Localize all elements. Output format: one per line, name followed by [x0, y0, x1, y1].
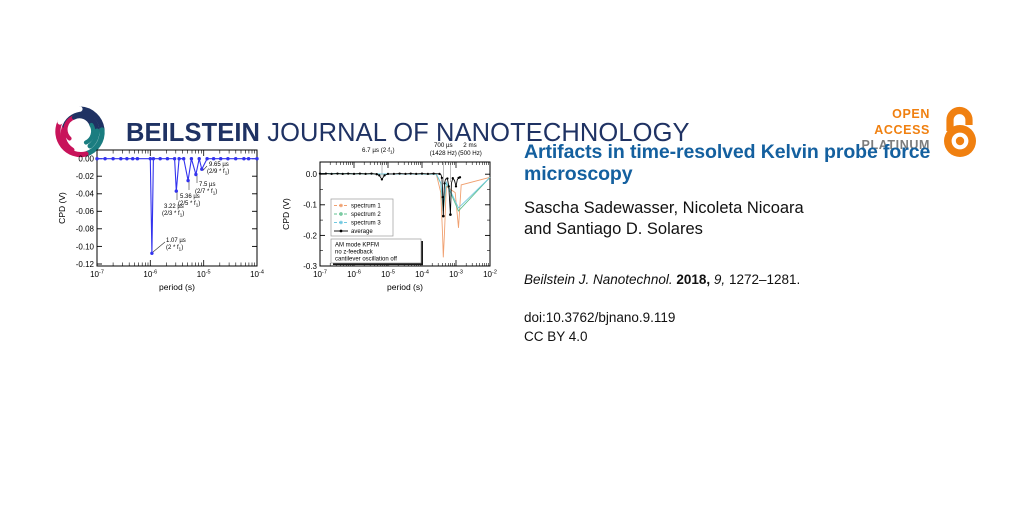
annotation-1-07us-relation: (2 * f1)	[166, 245, 183, 252]
article-cover-page: BEILSTEIN JOURNAL OF NANOTECHNOLOGY OPEN…	[0, 0, 1024, 512]
right-chart-ylabel: CPD (V)	[281, 198, 291, 230]
license-text[interactable]: CC BY 4.0	[524, 327, 992, 346]
left-chart-ylabel: CPD (V)	[57, 192, 67, 224]
legend-label-spectrum-2: spectrum 2	[351, 212, 381, 218]
svg-text:-0.04: -0.04	[76, 190, 95, 199]
page-title: Artifacts in time-resolved Kelvin probe …	[524, 142, 992, 185]
annotation-7-5us-value: 7.5 µs	[199, 182, 215, 188]
annotation-700us-value: 700 µs	[434, 142, 453, 149]
svg-text:10-7: 10-7	[313, 270, 327, 280]
svg-text:10-6: 10-6	[143, 270, 157, 280]
svg-text:-0.08: -0.08	[76, 225, 95, 234]
authors-line-1: Sascha Sadewasser, Nicoleta Nicoara	[524, 199, 804, 217]
right-chart-x-tick-labels: 10-7 10-6 10-5 10-4 10-3 10-2	[313, 270, 497, 280]
svg-text:10-4: 10-4	[415, 270, 429, 280]
figure-right-panel: 0.0 -0.1 -0.2 -0.3	[278, 138, 506, 308]
oa-line-access: ACCESS	[862, 123, 930, 139]
masthead: BEILSTEIN JOURNAL OF NANOTECHNOLOGY OPEN…	[0, 48, 1024, 120]
textbox-line-3: cantilever oscillation off	[335, 257, 397, 263]
annotation-7-5us-relation: (2/7 * f1)	[195, 189, 217, 196]
right-chart-y-tick-labels: 0.0 -0.1 -0.2 -0.3	[303, 170, 317, 271]
svg-text:-0.12: -0.12	[76, 260, 95, 269]
legend-label-spectrum-1: spectrum 1	[351, 204, 381, 210]
annotation-5-36us-relation: (2/5 * f1)	[178, 201, 200, 208]
article-info: Artifacts in time-resolved Kelvin probe …	[524, 142, 992, 346]
right-chart-xlabel: period (s)	[387, 282, 423, 292]
authors-line-2: and Santiago D. Solares	[524, 220, 703, 238]
svg-text:-0.1: -0.1	[303, 201, 317, 210]
svg-text:10-5: 10-5	[197, 270, 211, 280]
citation-pages: 1272–1281.	[729, 272, 800, 287]
left-chart-y-tick-labels: 0.00 -0.02 -0.04 -0.06 -0.08 -0.10 -0.12	[76, 155, 95, 269]
citation: Beilstein J. Nanotechnol. 2018, 9, 1272–…	[524, 270, 992, 289]
annotation-1-07us-value: 1.07 µs	[166, 238, 186, 244]
svg-text:0.0: 0.0	[306, 170, 318, 179]
svg-text:0.00: 0.00	[78, 155, 94, 164]
annotation-9-65us-relation: (2/9 * f1)	[207, 169, 229, 176]
left-chart-xlabel: period (s)	[159, 282, 195, 292]
annotation-2ms-value: 2 ms	[463, 142, 476, 149]
svg-text:10-3: 10-3	[449, 270, 463, 280]
right-chart-annotations: 6.7 µs (2·f1) 700 µs (1428 Hz) 2 ms (500…	[362, 142, 482, 157]
svg-text:-0.06: -0.06	[76, 207, 95, 216]
oa-line-open: OPEN	[862, 107, 930, 123]
annotation-6-7us: 6.7 µs (2·f1)	[362, 147, 395, 155]
svg-text:-0.10: -0.10	[76, 242, 95, 251]
right-chart-legend: spectrum 1 spectrum 2 spectrum 3 average	[331, 199, 393, 236]
svg-text:-0.02: -0.02	[76, 172, 95, 181]
annotation-2ms-freq: (500 Hz)	[458, 150, 482, 157]
svg-text:10-2: 10-2	[483, 270, 497, 280]
svg-text:10-4: 10-4	[250, 270, 264, 280]
textbox-line-1: AM mode KPFM	[335, 243, 379, 249]
figure-left-panel: 0.00 -0.02 -0.04 -0.06 -0.08 -0.10 -0.12	[52, 138, 274, 308]
legend-label-average: average	[351, 229, 373, 235]
svg-text:10-5: 10-5	[381, 270, 395, 280]
citation-volume: 9,	[714, 272, 725, 287]
svg-text:10-6: 10-6	[347, 270, 361, 280]
svg-text:10-7: 10-7	[90, 270, 104, 280]
svg-text:-0.2: -0.2	[303, 231, 317, 240]
textbox-line-2: no z-feedback	[335, 250, 374, 256]
citation-year: 2018,	[676, 272, 710, 287]
annotation-700us-freq: (1428 Hz)	[430, 150, 457, 157]
doi-text[interactable]: doi:10.3762/bjnano.9.119	[524, 308, 992, 327]
annotation-9-65us-value: 9.65 µs	[209, 162, 229, 168]
left-chart-x-tick-labels: 10-7 10-6 10-5 10-4	[90, 270, 264, 280]
doi-license-block: doi:10.3762/bjnano.9.119 CC BY 4.0	[524, 308, 992, 346]
legend-label-spectrum-3: spectrum 3	[351, 221, 381, 227]
citation-journal: Beilstein J. Nanotechnol.	[524, 272, 673, 287]
annotation-3-22us-relation: (2/3 * f1)	[162, 211, 184, 218]
right-chart-textbox: AM mode KPFM no z-feedback cantilever os…	[331, 239, 423, 265]
author-list: Sascha Sadewasser, Nicoleta Nicoara and …	[524, 198, 992, 240]
